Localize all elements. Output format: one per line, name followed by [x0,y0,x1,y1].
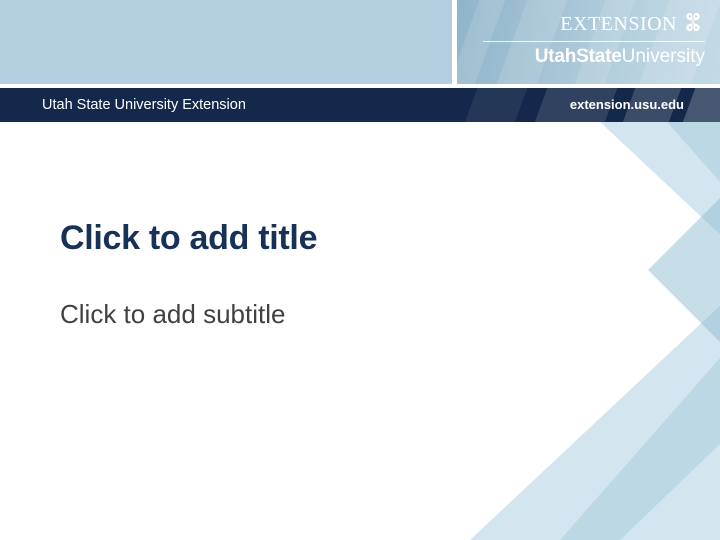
branding-bar: Utah State University Extension extensio… [0,88,720,122]
logo-university-text: University [622,46,705,67]
subtitle-placeholder[interactable]: Click to add subtitle [60,298,620,330]
navbar-band-1 [455,88,534,122]
logo-utahstate-text: UtahState [535,46,622,67]
logo-organization-row: UtahStateUniversity [477,46,707,68]
slide-header: Extension [0,0,720,84]
usu-extension-logo: Extension [477,6,707,76]
chevron-accent-lower [560,358,720,540]
logo-extension-wordmark: Extension [560,8,677,36]
branding-bar-title: Utah State University Extension [42,88,246,122]
header-left-panel [0,0,452,84]
chevron-accent-mid [648,198,720,342]
branding-bar-url[interactable]: extension.usu.edu [570,88,684,122]
title-placeholder[interactable]: Click to add title [60,218,620,258]
logo-divider-rule [483,41,705,42]
header-right-panel: Extension [457,0,720,84]
four-leaf-clover-icon [681,10,705,34]
logo-wordmark-row: Extension [477,6,707,38]
slide-canvas: Extension [0,0,720,540]
